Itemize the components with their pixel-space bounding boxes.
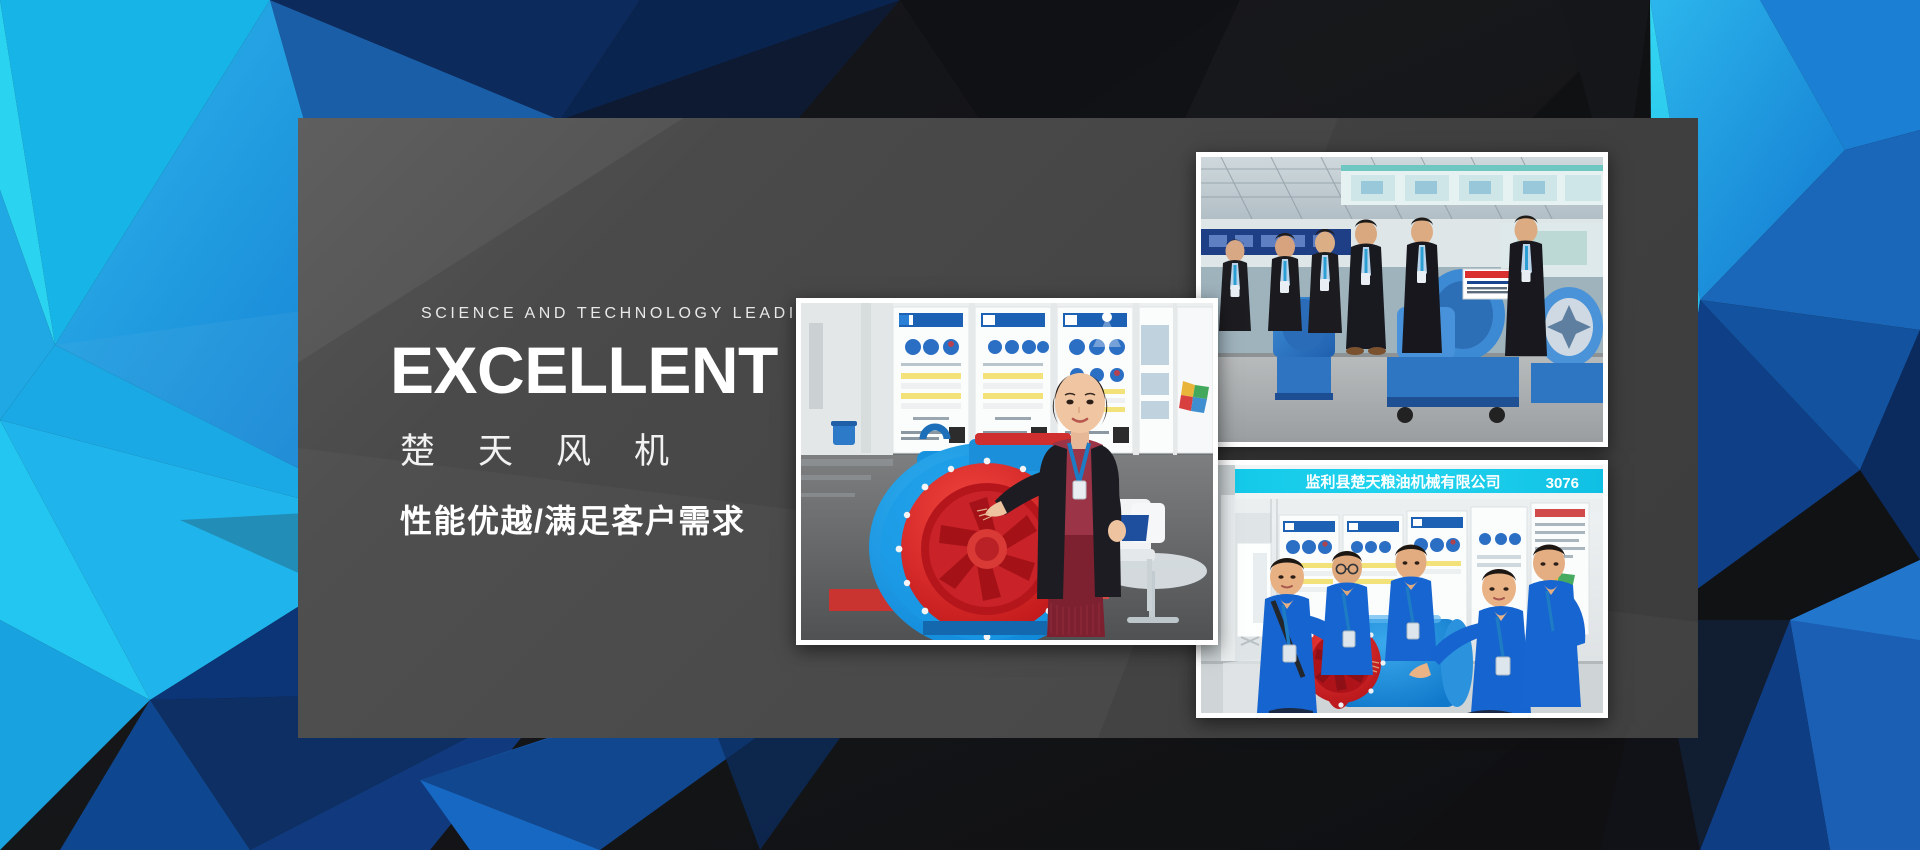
- photo-saleswoman-with-fan-image: [801, 303, 1213, 640]
- hero-banner: SCIENCE AND TECHNOLOGY LEADING EXCELLENT…: [0, 0, 1920, 850]
- photo-team-in-blue-polos: 监利县楚天粮油机械有限公司 3076: [1196, 460, 1608, 718]
- photo-team-in-suits-image: [1201, 157, 1603, 442]
- photo-saleswoman-with-fan: [796, 298, 1218, 645]
- booth-number-text: 3076: [1546, 475, 1579, 492]
- photo-team-in-suits: [1196, 152, 1608, 447]
- photo-team-in-blue-polos-image: 监利县楚天粮油机械有限公司 3076: [1201, 465, 1603, 713]
- booth-banner-text: 监利县楚天粮油机械有限公司: [1305, 473, 1500, 491]
